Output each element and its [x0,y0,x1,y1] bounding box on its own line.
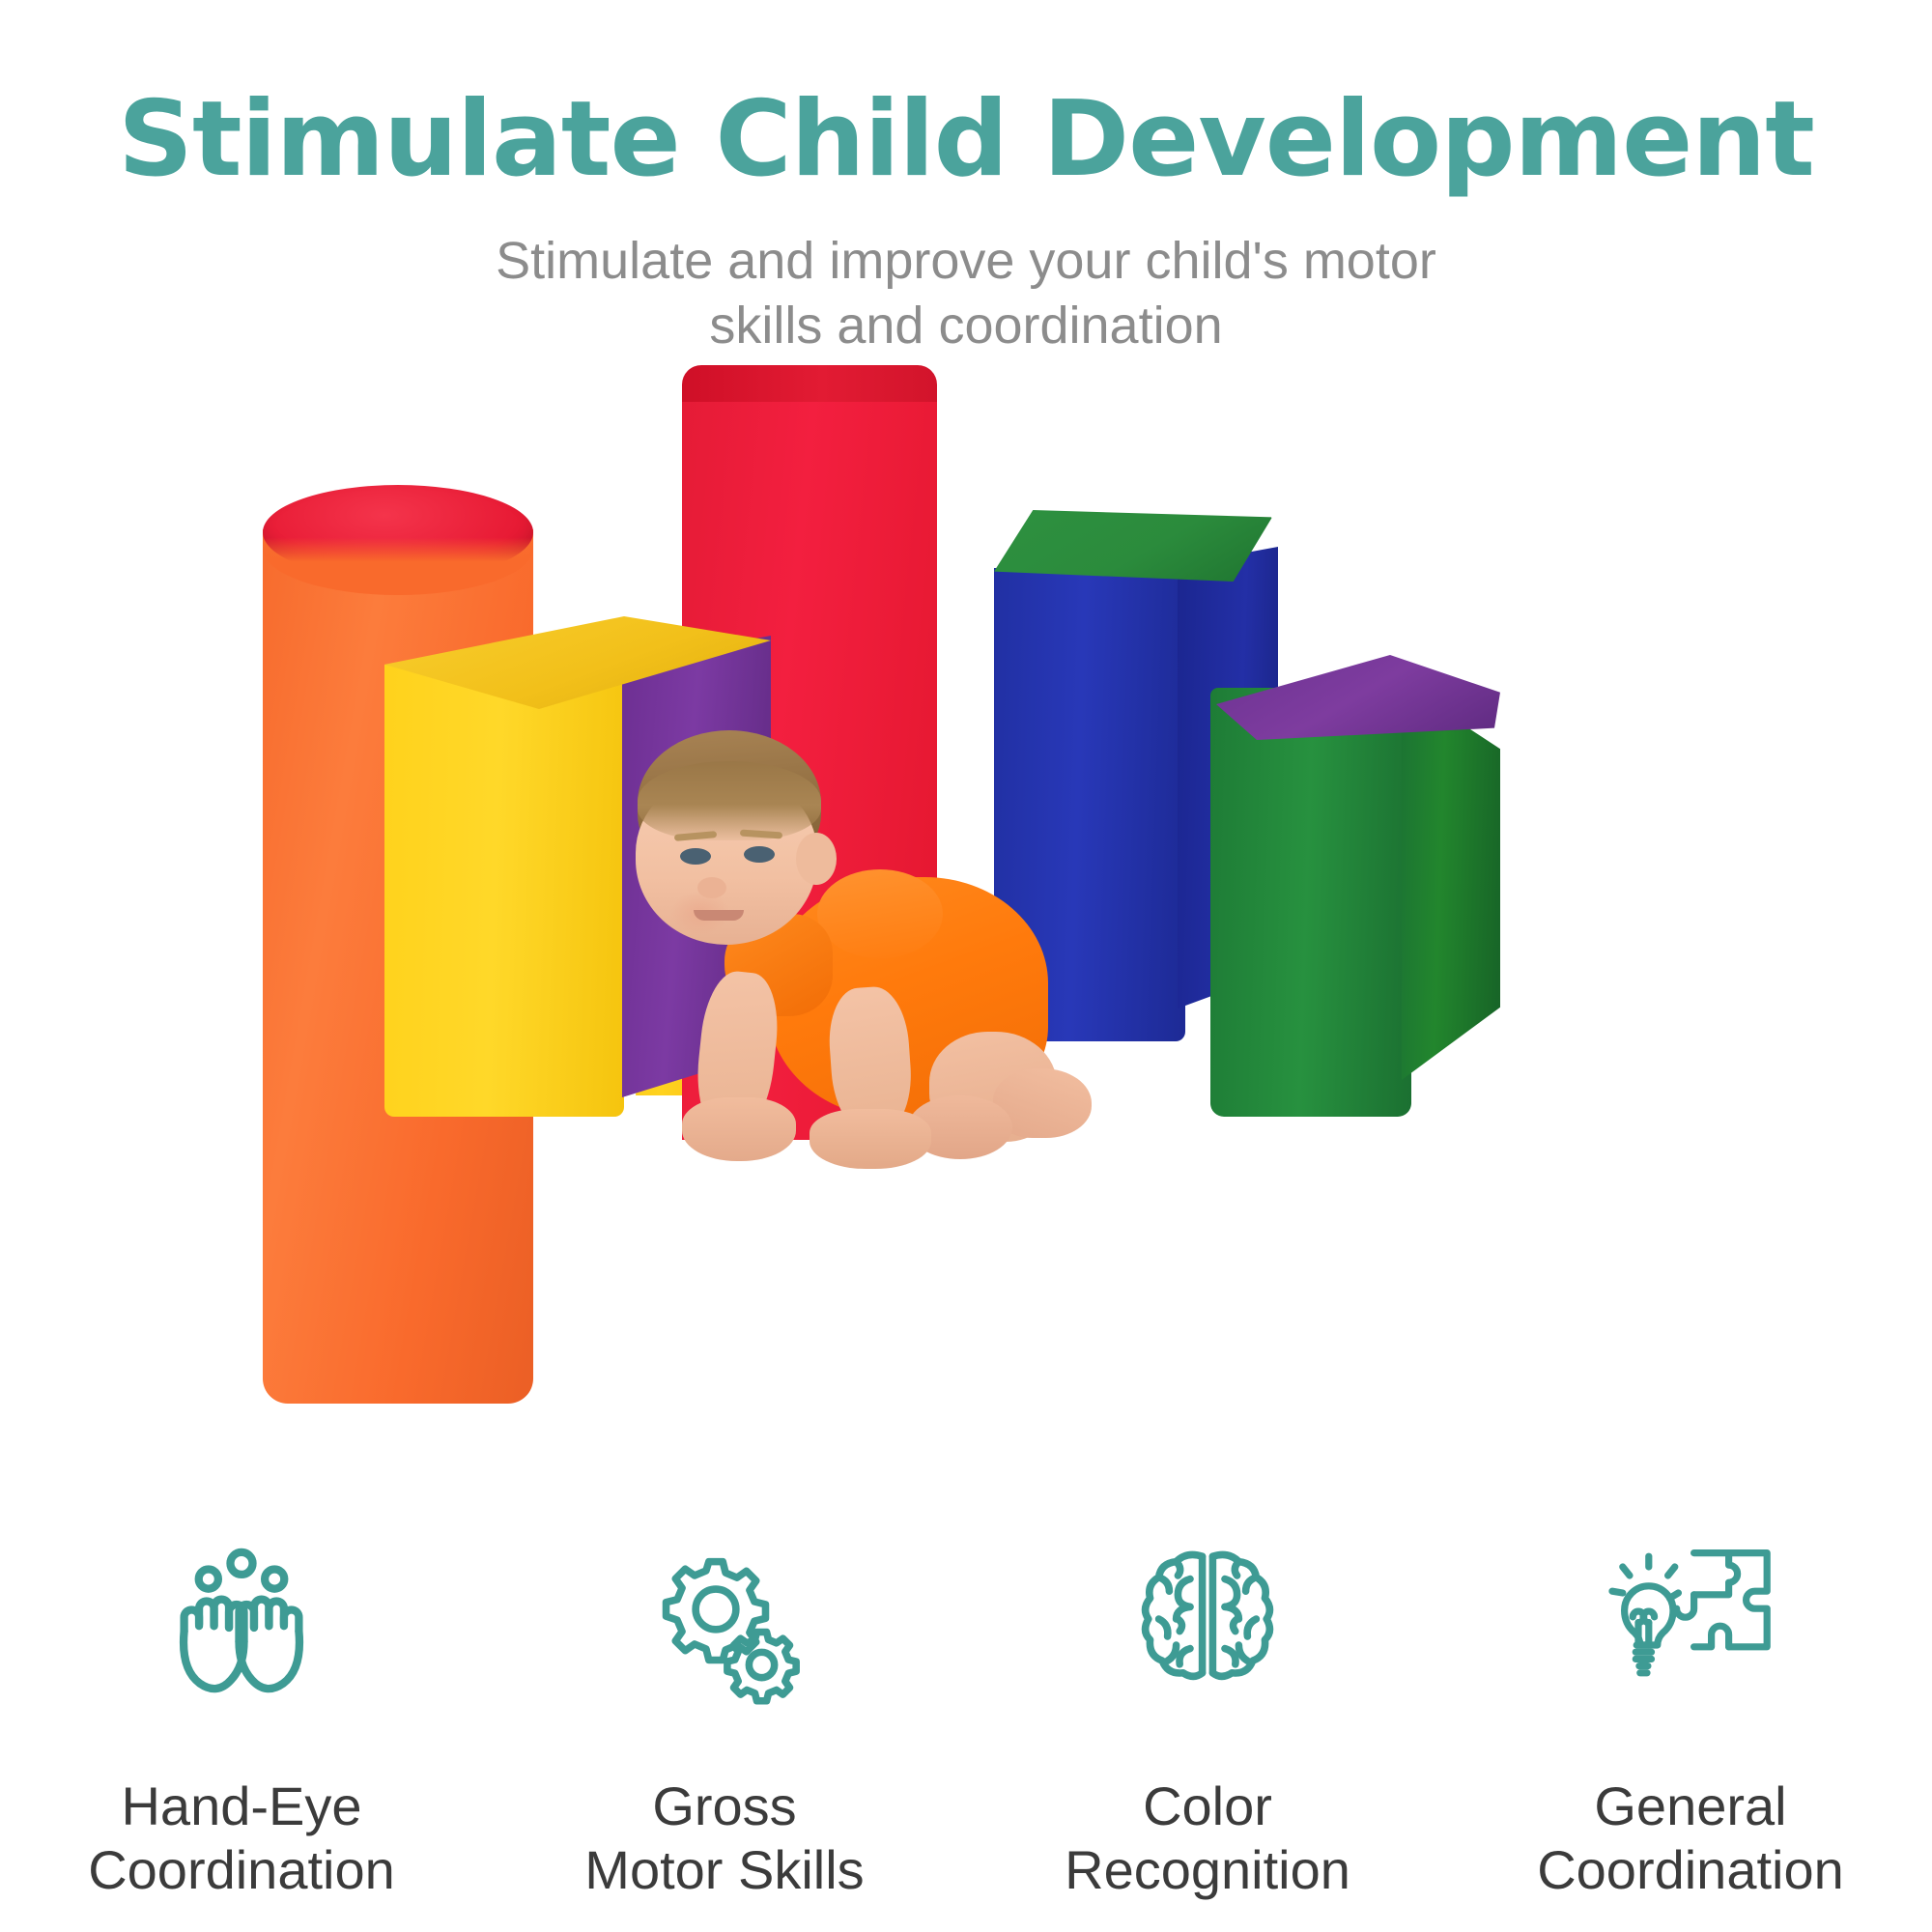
baby-hand-right [810,1109,931,1169]
baby-hair-fringe [638,761,821,840]
feature-label: General Coordination [1449,1775,1932,1902]
brain-icon [966,1521,1449,1734]
feature-label-line-2: Recognition [966,1838,1449,1902]
feature-row: Hand-Eye Coordination Gross Motor Skills [0,1521,1932,1902]
feature-label-line-1: Gross [483,1775,966,1838]
lightbulb-puzzle-icon [1449,1521,1932,1734]
promo-image-root: Stimulate Child Development Stimulate an… [0,0,1932,1932]
feature-label-line-1: General [1449,1775,1932,1838]
feature-label-line-2: Coordination [0,1838,483,1902]
baby-hand-left [682,1097,796,1161]
feature-label-line-2: Coordination [1449,1838,1932,1902]
subtitle-line-2: skills and coordination [0,294,1932,359]
subtitle-line-1: Stimulate and improve your child's motor [0,229,1932,295]
feature-label: Color Recognition [966,1775,1449,1902]
feature-color-recognition: Color Recognition [966,1521,1449,1902]
baby-eye-right [744,846,775,863]
page-title: Stimulate Child Development [0,0,1932,198]
feature-label: Gross Motor Skills [483,1775,966,1902]
feature-label-line-2: Motor Skills [483,1838,966,1902]
page-subtitle: Stimulate and improve your child's motor… [0,198,1932,359]
gears-icon [483,1521,966,1734]
feature-hand-eye-coordination: Hand-Eye Coordination [0,1521,483,1902]
baby-shoulder [817,869,943,958]
header: Stimulate Child Development Stimulate an… [0,0,1932,359]
feature-label: Hand-Eye Coordination [0,1775,483,1902]
block-slab-red-top [682,365,937,402]
hands-juggling-icon [0,1521,483,1734]
product-scene [0,357,1932,1497]
crawling-baby [589,724,1111,1169]
feature-gross-motor-skills: Gross Motor Skills [483,1521,966,1902]
block-green-front [1210,688,1411,1117]
block-cylinder-rim [263,502,533,595]
baby-mouth [694,910,744,921]
baby-ear [796,833,837,885]
block-yellow-front [384,665,624,1117]
block-blue-green-top [994,510,1272,582]
block-green-side [1402,676,1500,1080]
feature-label-line-1: Color [966,1775,1449,1838]
feature-label-line-1: Hand-Eye [0,1775,483,1838]
baby-nose [697,877,726,898]
baby-eye-left [680,848,711,865]
feature-general-coordination: General Coordination [1449,1521,1932,1902]
